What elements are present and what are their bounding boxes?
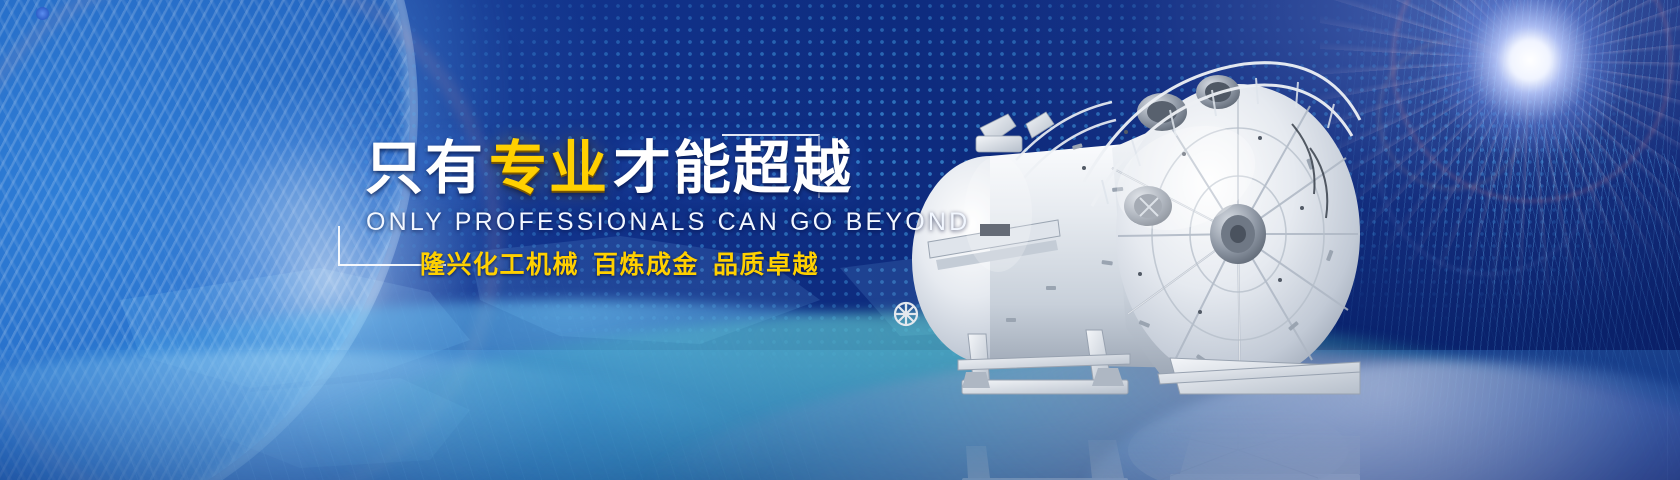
headline-prefix: 只有 xyxy=(365,136,485,201)
subtitle-english: ONLY PROFESSIONALS CAN GO BEYOND xyxy=(366,208,970,237)
hero-banner: 只有专业才能超越 ONLY PROFESSIONALS CAN GO BEYON… xyxy=(0,0,1680,480)
product-reflection xyxy=(840,398,1380,480)
tagline-part-2: 百炼成金 xyxy=(593,251,699,279)
tagline-chinese: 隆兴化工机械百炼成金品质卓越 xyxy=(420,245,819,281)
tagline-part-3: 品质卓越 xyxy=(713,251,819,279)
headline-accent: 专业 xyxy=(485,136,613,201)
edge-frame-line xyxy=(1667,0,1668,480)
tagline-part-1: 隆兴化工机械 xyxy=(420,251,579,279)
headline-suffix: 才能超越 xyxy=(613,136,853,201)
page-title: 只有专业才能超越 xyxy=(365,140,853,198)
headline-group: 只有专业才能超越 ONLY PROFESSIONALS CAN GO BEYON… xyxy=(330,118,830,288)
